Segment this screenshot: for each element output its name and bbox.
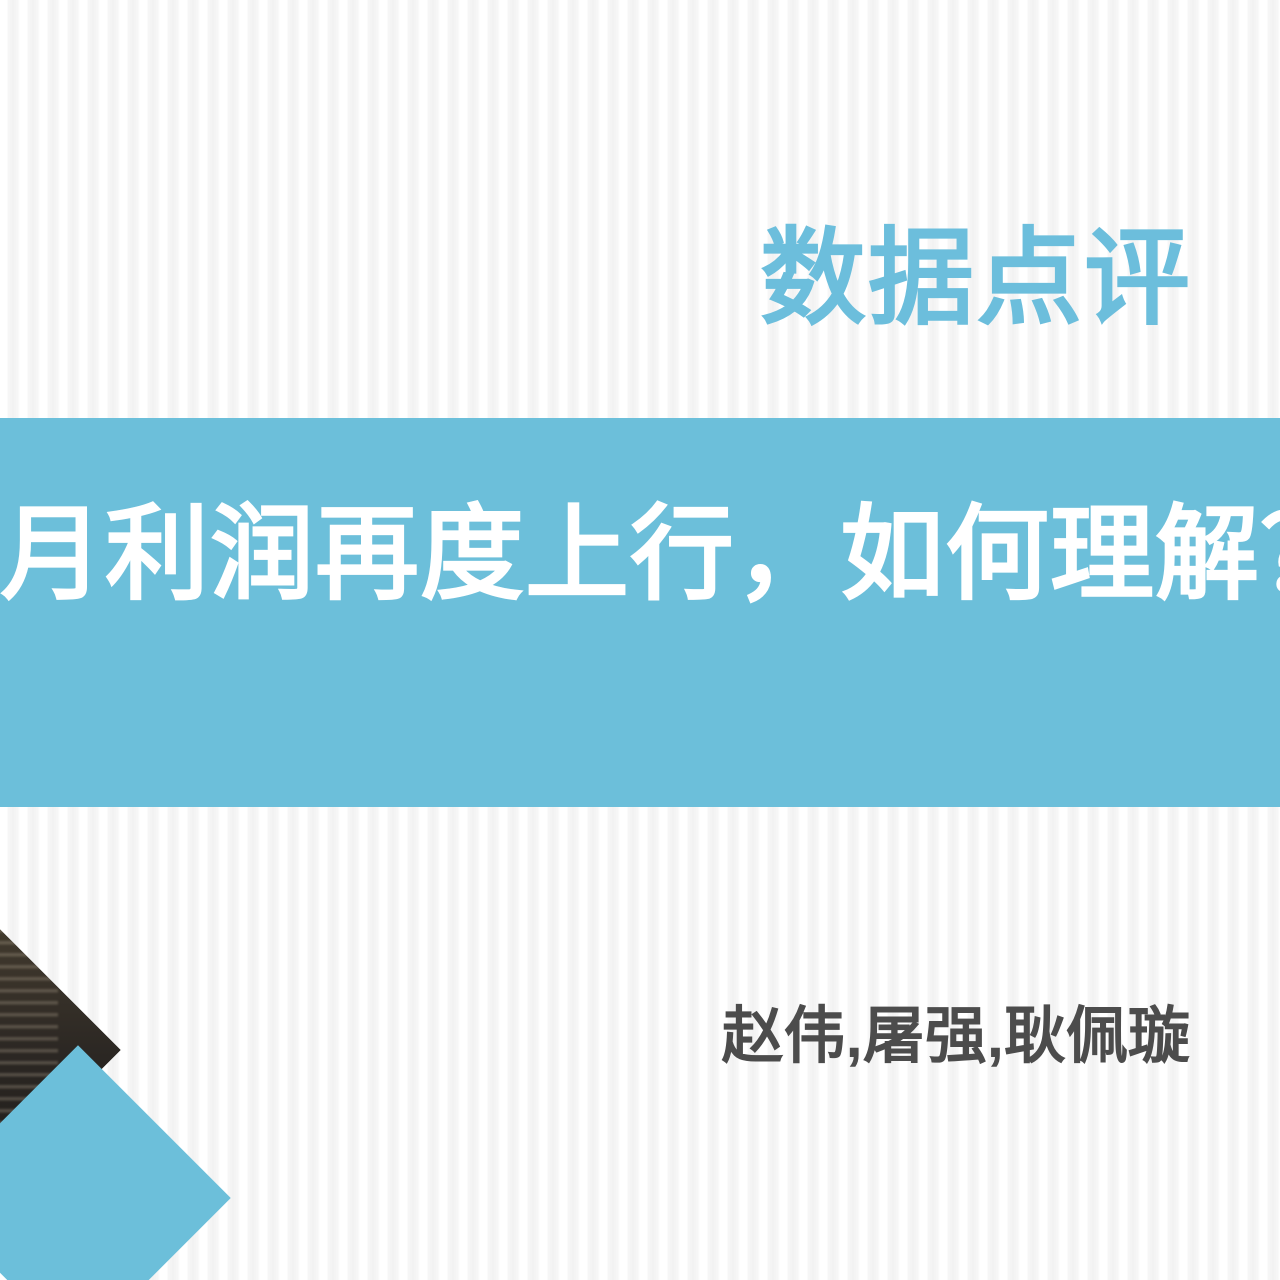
slide-kicker: 数据点评 bbox=[0, 222, 1192, 336]
title-slide: 数据点评 月利润再度上行，如何理解？ 赵伟,屠强,耿佩璇 bbox=[0, 0, 1280, 1280]
slide-headline: 月利润再度上行，如何理解？ bbox=[0, 497, 1192, 613]
slide-authors: 赵伟,屠强,耿佩璇 bbox=[722, 1004, 1190, 1071]
